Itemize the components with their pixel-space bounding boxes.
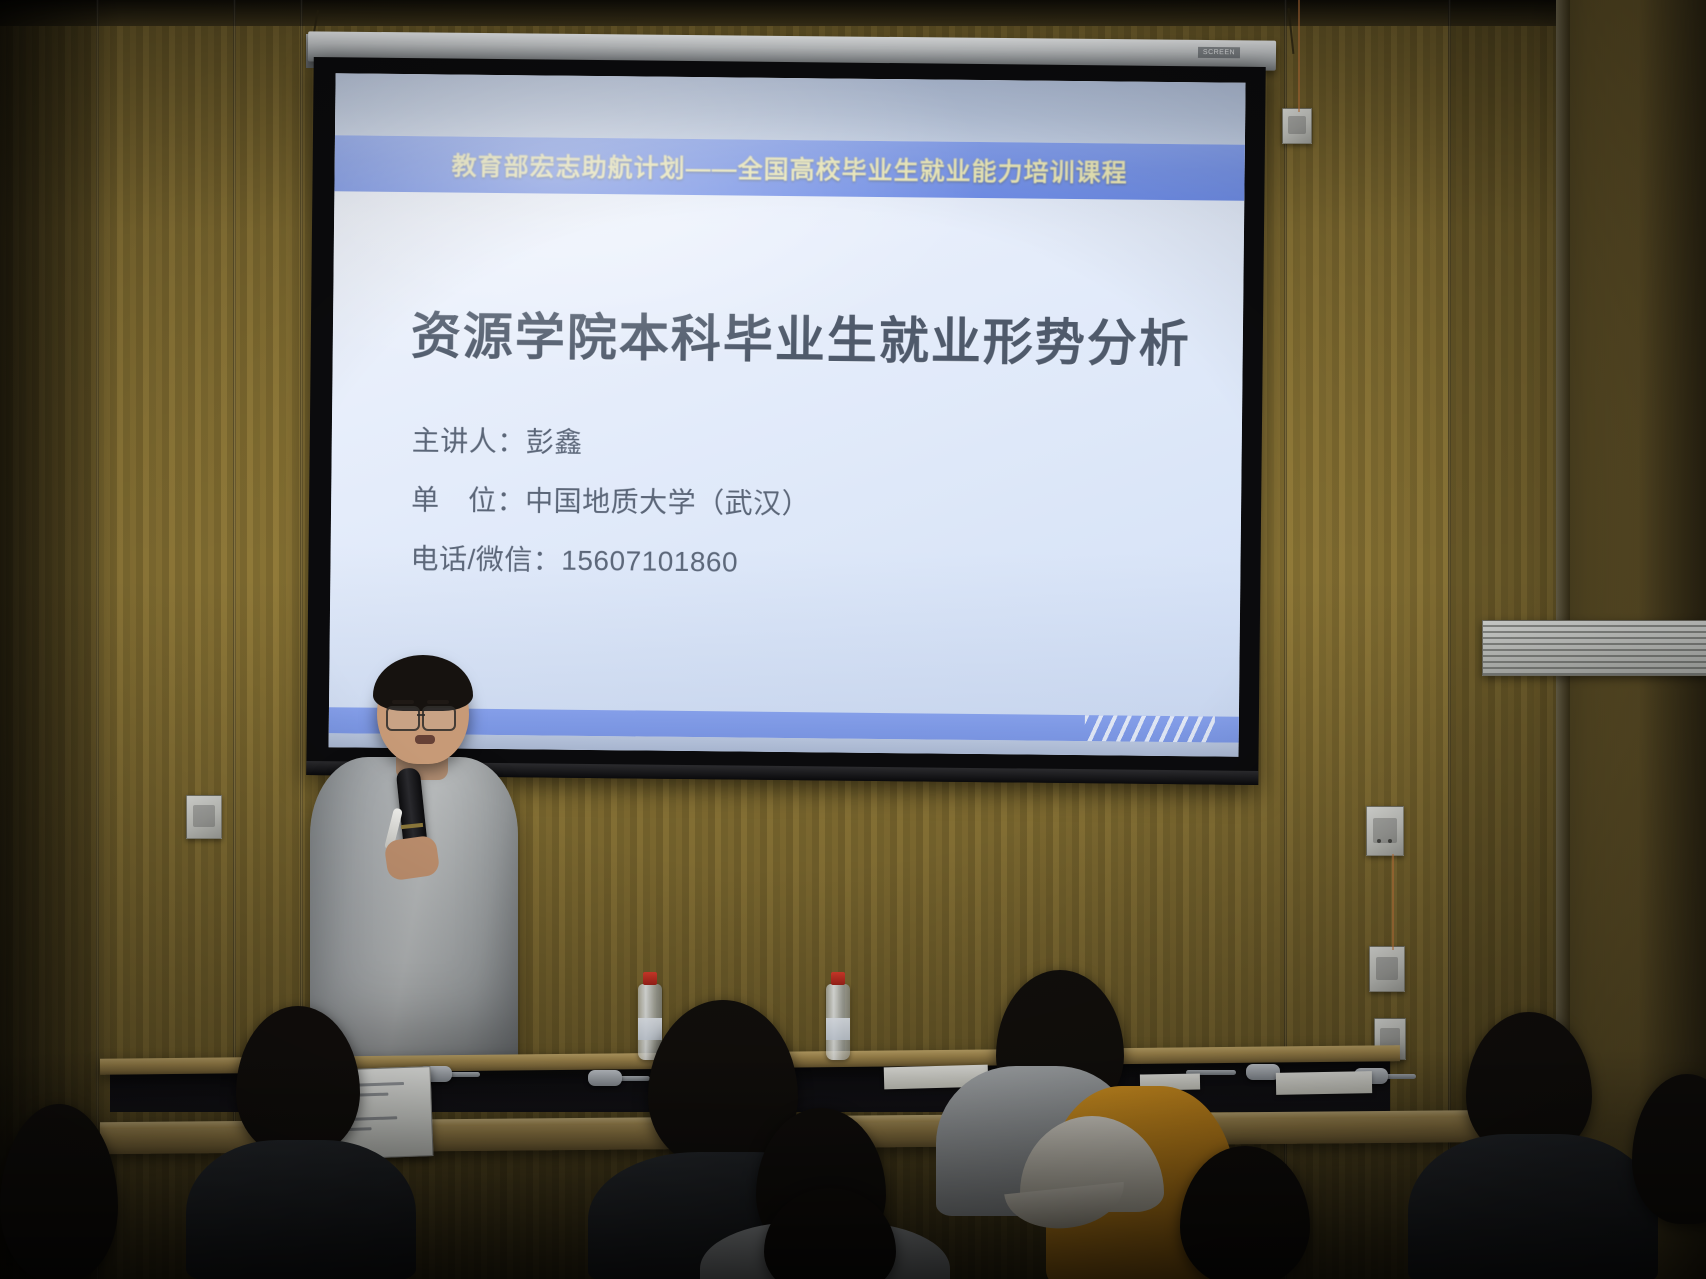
wall-seam-5 [1448, 0, 1451, 1279]
outlet-pin [1377, 839, 1381, 843]
audience-shoulders-5 [1408, 1134, 1658, 1279]
slide-banner-text: 教育部宏志助航计划——全国高校毕业生就业能力培训课程 [451, 146, 1127, 189]
slide-banner: 教育部宏志助航计划——全国高校毕业生就业能力培训课程 [334, 135, 1245, 201]
slide-meta-contact: 电话/微信：15607101860 [410, 537, 809, 581]
bottle-cap [643, 972, 657, 985]
presentation-slide: 教育部宏志助航计划——全国高校毕业生就业能力培训课程 资源学院本科毕业生就业形势… [329, 73, 1246, 756]
projector-screen-surface: 教育部宏志助航计划——全国高校毕业生就业能力培训课程 资源学院本科毕业生就业形势… [329, 73, 1246, 756]
wall-outlet-right-upper[interactable] [1366, 806, 1404, 856]
presenter-glasses-bridge [417, 714, 425, 716]
slide-top-margin [335, 73, 1246, 145]
desk-microphone-2[interactable] [588, 1070, 622, 1086]
outlet-pin [1388, 839, 1392, 843]
desk-paper-2 [1276, 1071, 1372, 1095]
audience-shoulders-1 [186, 1140, 416, 1279]
slide-meta-block: 主讲人：彭鑫 单 位：中国地质大学（武汉） 电话/微信：15607101860 [410, 419, 811, 581]
power-cable [1298, 0, 1300, 112]
wall-plate-top-right[interactable] [1282, 108, 1312, 144]
power-cable-lower [1392, 854, 1394, 950]
water-bottle-2 [826, 984, 850, 1060]
outlet-socket [1376, 957, 1398, 980]
wall-shadow-left [0, 0, 120, 1279]
presenter-eyebrow-left [392, 700, 414, 704]
screen-brand-logo: SCREEN [1198, 47, 1240, 58]
bottle-cap [831, 972, 845, 985]
presenter-eyebrow-right [427, 700, 449, 704]
bottle-label [638, 1018, 662, 1040]
slide-title: 资源学院本科毕业生就业形势分析 [411, 296, 1192, 376]
presenter-mouth [415, 735, 435, 744]
slide-meta-speaker: 主讲人：彭鑫 [412, 419, 811, 463]
lecture-hall-photo: SCREEN 教育部宏志助航计划——全国高校毕业生就业能力培训课程 资源学院本科… [0, 0, 1706, 1279]
wall-outlet-left[interactable] [186, 795, 222, 839]
presenter-glasses-right-lens [422, 706, 456, 731]
bottle-label [826, 1018, 850, 1040]
outlet-socket [1288, 116, 1306, 134]
ac-vent-grille [1482, 620, 1706, 676]
presenter-glasses-left-lens [386, 706, 420, 731]
wall-outlet-right-lower[interactable] [1369, 946, 1405, 992]
slide-footer-stripes [1085, 715, 1215, 742]
slide-meta-affiliation: 单 位：中国地质大学（武汉） [411, 478, 810, 522]
outlet-socket [193, 805, 215, 827]
